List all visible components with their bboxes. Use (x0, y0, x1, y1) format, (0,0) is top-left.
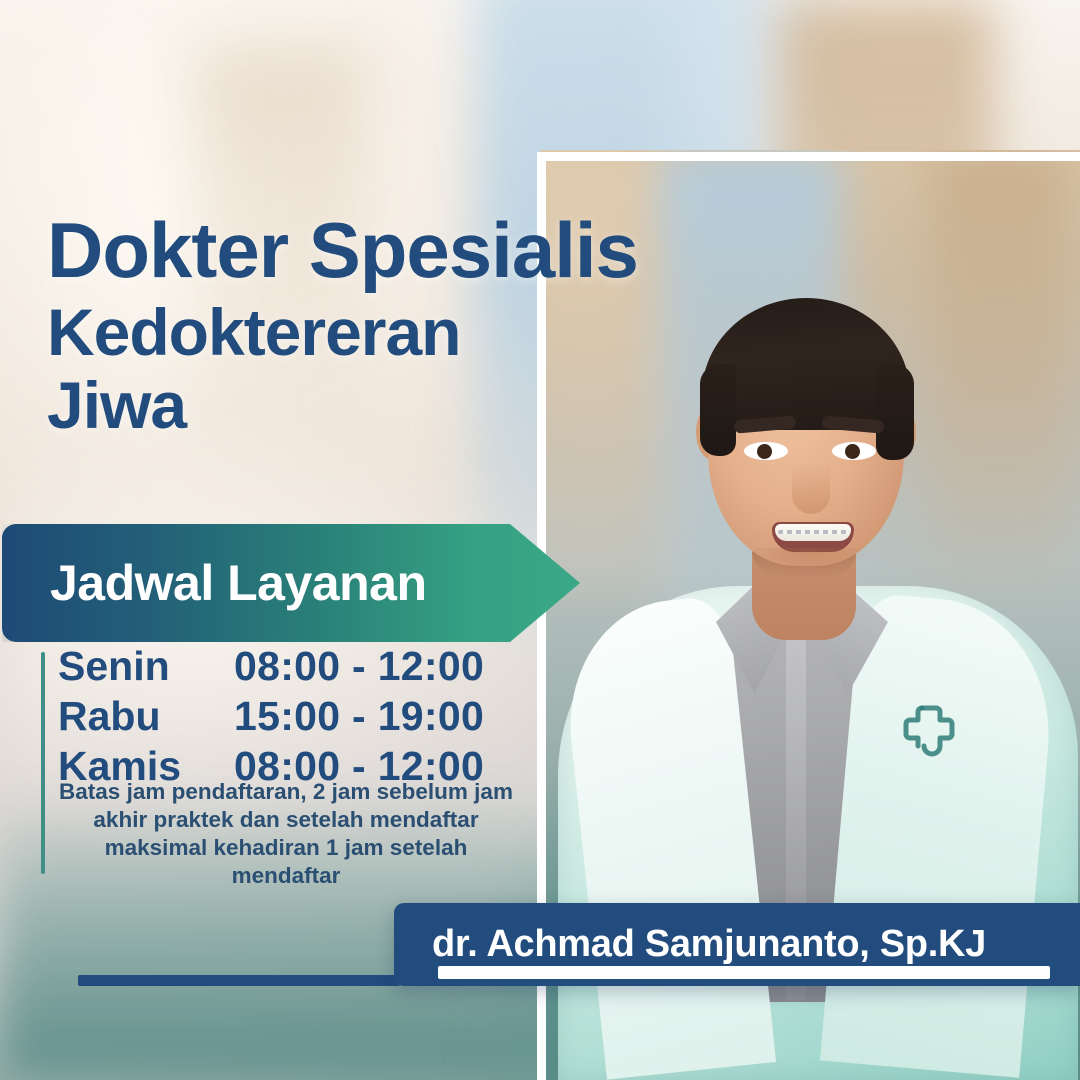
doctor-braces (778, 530, 848, 534)
medical-cross-icon (898, 700, 960, 762)
schedule-day: Rabu (58, 696, 234, 737)
title-line-2: Kedoktereran (47, 300, 687, 365)
bottom-divider (78, 975, 400, 986)
registration-disclaimer: Batas jam pendaftaran, 2 jam sebelum jam… (52, 778, 520, 890)
doctor-eye-left (744, 442, 788, 460)
doctor-eye-right (832, 442, 876, 460)
page-title: Dokter Spesialis Kedoktereran Jiwa (47, 212, 687, 438)
schedule-banner: Jadwal Layanan (2, 524, 580, 642)
doctor-hair-side-left (700, 364, 736, 456)
schedule-day: Senin (58, 646, 234, 687)
doctor-name-underline (438, 966, 1050, 979)
schedule-row: Senin 08:00 - 12:00 (58, 646, 528, 687)
doctor-pupil-right (845, 444, 860, 459)
doctor-chin-shadow (746, 548, 870, 578)
title-line-1: Dokter Spesialis (47, 212, 687, 288)
schedule-row: Rabu 15:00 - 19:00 (58, 696, 528, 737)
poster-root: Dokter Spesialis Kedoktereran Jiwa Jadwa… (0, 0, 1080, 1080)
title-line-3: Jiwa (47, 373, 687, 438)
schedule-banner-label: Jadwal Layanan (50, 554, 427, 612)
doctor-hair-side-right (876, 364, 914, 460)
schedule-time: 08:00 - 12:00 (234, 646, 484, 687)
doctor-name: dr. Achmad Samjunanto, Sp.KJ (432, 923, 986, 966)
schedule-list: Senin 08:00 - 12:00 Rabu 15:00 - 19:00 K… (58, 646, 528, 796)
doctor-pupil-left (757, 444, 772, 459)
schedule-accent-rule (41, 652, 45, 874)
doctor-nose (792, 462, 830, 514)
schedule-time: 15:00 - 19:00 (234, 696, 484, 737)
